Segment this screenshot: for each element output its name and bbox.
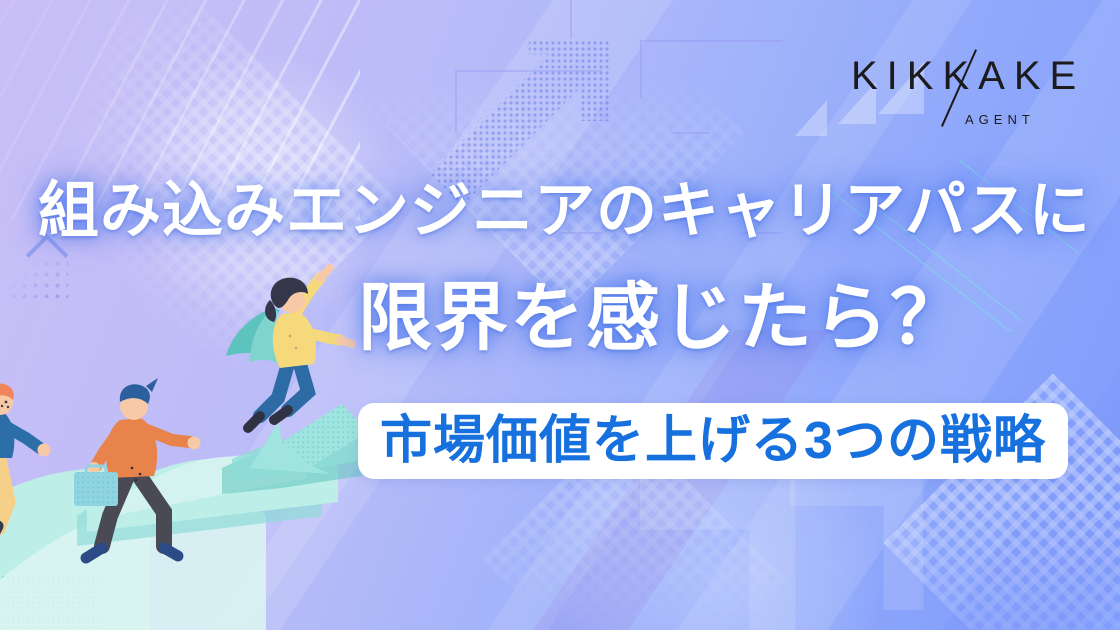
headline-line-2: 限界を感じたら？ [358, 258, 966, 365]
headline-block: 組み込みエンジニアのキャリアパスに 限界を感じたら？ [0, 0, 1120, 630]
headline-line-1: 組み込みエンジニアのキャリアパスに [38, 160, 1091, 249]
highlight-pill: 市場価値を上げる3つの戦略 [358, 403, 1068, 479]
banner-canvas: KIKKAKE AGENT 組み込みエンジニアのキャリアパスに 限界を感じたら？… [0, 0, 1120, 630]
highlight-pill-text: 市場価値を上げる3つの戦略 [380, 415, 1046, 467]
